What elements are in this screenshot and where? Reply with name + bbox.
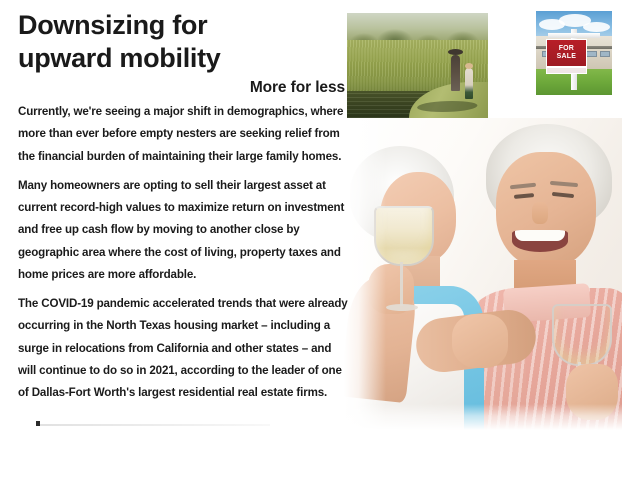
wine-glass-foot [386, 304, 418, 311]
house-window [586, 51, 596, 57]
paragraph-3: The COVID-19 pandemic accelerated trends… [18, 293, 348, 404]
headline-line-1: Downsizing for [18, 10, 207, 40]
paragraph-1: Currently, we're seeing a major shift in… [18, 101, 348, 168]
for-sale-text-line-1: FOR [559, 45, 574, 53]
man-smile [512, 230, 568, 252]
man-nose [532, 202, 548, 224]
slide-canvas: Downsizing for upward mobility More for … [0, 0, 640, 480]
wine-glass-stem [400, 262, 403, 306]
man-hand-clasped [452, 314, 508, 368]
page-title: Downsizing for upward mobility [18, 9, 348, 75]
photo-bottom-fade [344, 404, 622, 430]
scan-artifact-line [40, 424, 270, 426]
couple-walking-by-reeds-photo [347, 13, 488, 118]
for-sale-sign-photo: FOR SALE [536, 11, 612, 95]
photo-left-fade [344, 118, 386, 430]
for-sale-text-line-2: SALE [557, 53, 576, 61]
body-copy: Currently, we're seeing a major shift in… [18, 101, 348, 404]
subheading: More for less [18, 79, 345, 97]
paragraph-2: Many homeowners are opting to sell their… [18, 175, 348, 286]
for-sale-board: FOR SALE [546, 39, 587, 68]
reeds-figure-woman [465, 68, 473, 100]
sign-agent-strip [546, 67, 587, 74]
reeds-figure-man [451, 55, 460, 91]
house-window [600, 51, 610, 57]
wine-glass-bowl [552, 304, 612, 366]
senior-couple-with-wine-photo [344, 118, 622, 430]
sign-crossarm [548, 33, 600, 38]
headline-line-2: upward mobility [18, 42, 348, 75]
scan-artifact-dot [36, 421, 40, 426]
